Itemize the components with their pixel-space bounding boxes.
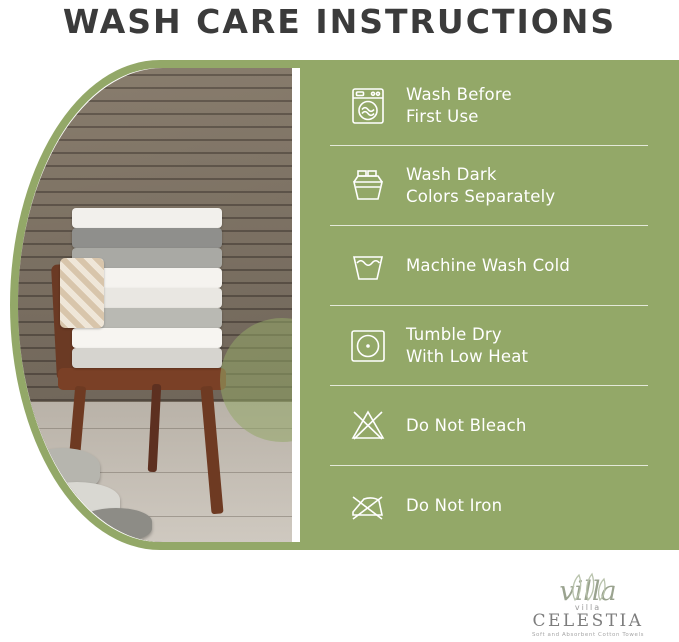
washing-machine-icon bbox=[330, 83, 406, 129]
care-row-tumble-dry-low-heat: Tumble Dry With Low Heat bbox=[330, 306, 648, 386]
photo-frame bbox=[10, 60, 310, 550]
wash-dark-colors-separately-icon bbox=[330, 163, 406, 209]
page-title: WASH CARE INSTRUCTIONS bbox=[0, 2, 679, 41]
tumble-dry-low-heat-icon bbox=[330, 323, 406, 369]
care-row-label: Wash Dark Colors Separately bbox=[406, 164, 555, 206]
rolled-towel-4 bbox=[80, 508, 152, 542]
care-instruction-list: Wash Before First Use Wash Dark Colors S… bbox=[330, 66, 648, 546]
care-row-wash-dark-colors-separately: Wash Dark Colors Separately bbox=[330, 146, 648, 226]
logo-tagline: Soft and Absorbent Cotton Towels bbox=[513, 632, 663, 638]
logo-brand-name: CELESTIA bbox=[513, 612, 663, 631]
machine-wash-cold-icon bbox=[330, 243, 406, 289]
leaves-icon bbox=[561, 572, 615, 607]
care-row-do-not-bleach: Do Not Bleach bbox=[330, 386, 648, 466]
care-row-machine-wash-cold: Machine Wash Cold bbox=[330, 226, 648, 306]
towels-photo bbox=[18, 68, 292, 542]
care-row-wash-before-first-use: Wash Before First Use bbox=[330, 66, 648, 146]
care-row-do-not-iron: Do Not Iron bbox=[330, 466, 648, 546]
care-row-label: Wash Before First Use bbox=[406, 84, 512, 126]
wash-care-instructions-graphic: WASH CARE INSTRUCTIONS bbox=[0, 0, 679, 642]
care-row-label: Machine Wash Cold bbox=[406, 255, 570, 276]
care-row-label: Do Not Iron bbox=[406, 495, 502, 516]
plaid-towel bbox=[60, 258, 104, 328]
brand-logo: villa villa CELESTIA Soft and Absorbent … bbox=[513, 578, 663, 638]
care-row-label: Tumble Dry With Low Heat bbox=[406, 324, 528, 366]
care-row-label: Do Not Bleach bbox=[406, 415, 527, 436]
do-not-iron-icon bbox=[330, 483, 406, 529]
do-not-bleach-icon bbox=[330, 403, 406, 449]
